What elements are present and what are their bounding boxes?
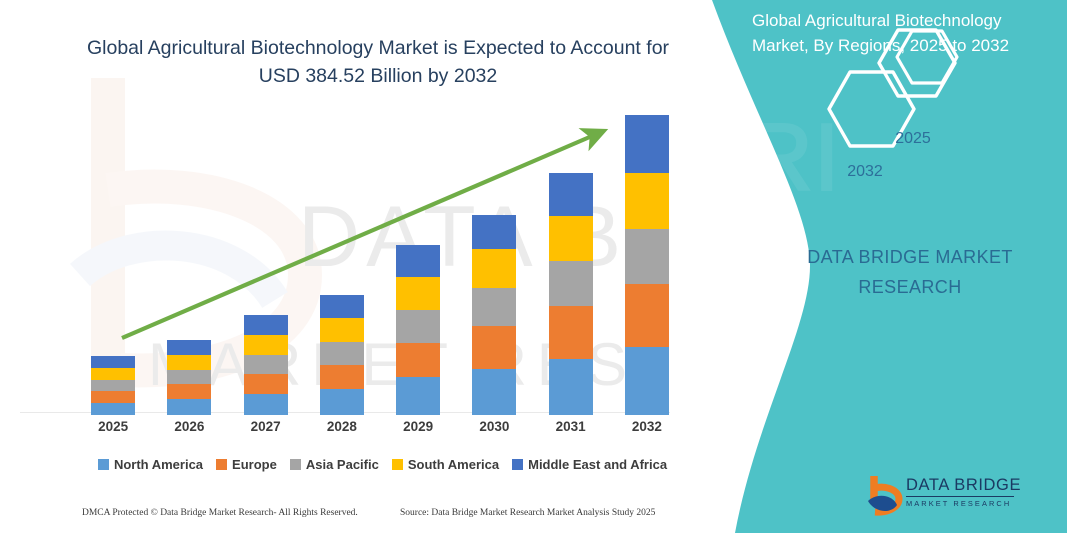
footer: DMCA Protected © Data Bridge Market Rese… [0,505,700,527]
legend-label: Asia Pacific [306,457,379,472]
legend-swatch-icon [290,459,301,470]
bar-segment [167,399,211,415]
bar-column [625,115,669,415]
bar-segment [625,115,669,173]
hexagon-label-2025: 2025 [877,130,949,148]
x-axis-labels: 20252026202720282029203020312032 [75,419,685,441]
bar-segment [396,377,440,415]
logo-tagline: MARKET RESEARCH [906,498,1021,509]
bar-segment [472,215,516,249]
bar-segment [244,374,288,394]
bar-segment [472,326,516,368]
bar-column [396,245,440,415]
x-axis-label: 2030 [464,419,524,434]
bar-segment [549,216,593,261]
x-axis-label: 2032 [617,419,677,434]
bar-segment [91,391,135,403]
bar-column [549,173,593,415]
legend-swatch-icon [392,459,403,470]
x-axis-label: 2031 [541,419,601,434]
bar-segment [320,365,364,389]
legend-item: North America [98,457,203,472]
bar-segment [167,340,211,355]
legend-item: Asia Pacific [290,457,379,472]
bar-segment [320,342,364,365]
bar-segment [396,310,440,342]
bar-group [75,113,685,415]
infographic-canvas: DATA BRIDGE MARKET RESEARCH BRI RES 2025… [0,0,1067,533]
bar-segment [167,384,211,399]
stacked-bar-chart [75,110,685,415]
x-axis-label: 2027 [236,419,296,434]
bar-segment [91,368,135,380]
panel-title: Global Agricultural Biotechnology Market… [752,8,1052,58]
logo-mark-icon [866,474,904,518]
legend-item: South America [392,457,499,472]
bar-segment [91,380,135,391]
chart-legend: North AmericaEuropeAsia PacificSouth Ame… [75,454,690,474]
bar-column [244,315,288,415]
bar-segment [91,403,135,415]
bar-column [472,215,516,415]
bar-segment [625,347,669,415]
legend-label: North America [114,457,203,472]
bar-segment [625,173,669,228]
x-axis-label: 2028 [312,419,372,434]
x-axis-label: 2025 [83,419,143,434]
bar-segment [244,355,288,374]
svg-text:BRI: BRI [680,104,840,211]
bar-segment [244,315,288,334]
bar-segment [625,284,669,346]
bar-segment [167,370,211,384]
bar-segment [320,389,364,415]
logo-divider [906,496,1014,497]
legend-label: Middle East and Africa [528,457,667,472]
bar-segment [625,229,669,284]
bar-column [320,295,364,415]
bar-segment [472,249,516,288]
bar-segment [549,359,593,415]
legend-swatch-icon [216,459,227,470]
x-axis-label: 2029 [388,419,448,434]
legend-item: Europe [216,457,277,472]
footer-source: Source: Data Bridge Market Research Mark… [400,508,655,518]
legend-swatch-icon [98,459,109,470]
legend-label: South America [408,457,499,472]
panel-brand-name: DATA BRIDGE MARKET RESEARCH [770,242,1050,302]
footer-copyright: DMCA Protected © Data Bridge Market Rese… [82,508,358,518]
bar-segment [91,356,135,368]
bar-segment [320,295,364,318]
bar-segment [472,288,516,326]
hexagon-label-2032: 2032 [829,163,901,181]
bar-segment [549,306,593,358]
bar-segment [472,369,516,415]
bar-segment [549,173,593,215]
x-axis-label: 2026 [159,419,219,434]
bar-segment [396,343,440,377]
bar-segment [167,355,211,370]
legend-swatch-icon [512,459,523,470]
data-bridge-logo: DATA BRIDGE MARKET RESEARCH [866,474,1046,520]
logo-name: DATA BRIDGE [906,476,1021,495]
bar-segment [396,245,440,277]
legend-label: Europe [232,457,277,472]
bar-segment [244,394,288,415]
bar-column [167,340,211,415]
page-title: Global Agricultural Biotechnology Market… [68,34,688,90]
legend-item: Middle East and Africa [512,457,667,472]
bar-segment [396,277,440,310]
bar-segment [244,335,288,355]
bar-column [91,356,135,415]
logo-text: DATA BRIDGE MARKET RESEARCH [906,476,1021,509]
bar-segment [549,261,593,306]
bar-segment [320,318,364,341]
